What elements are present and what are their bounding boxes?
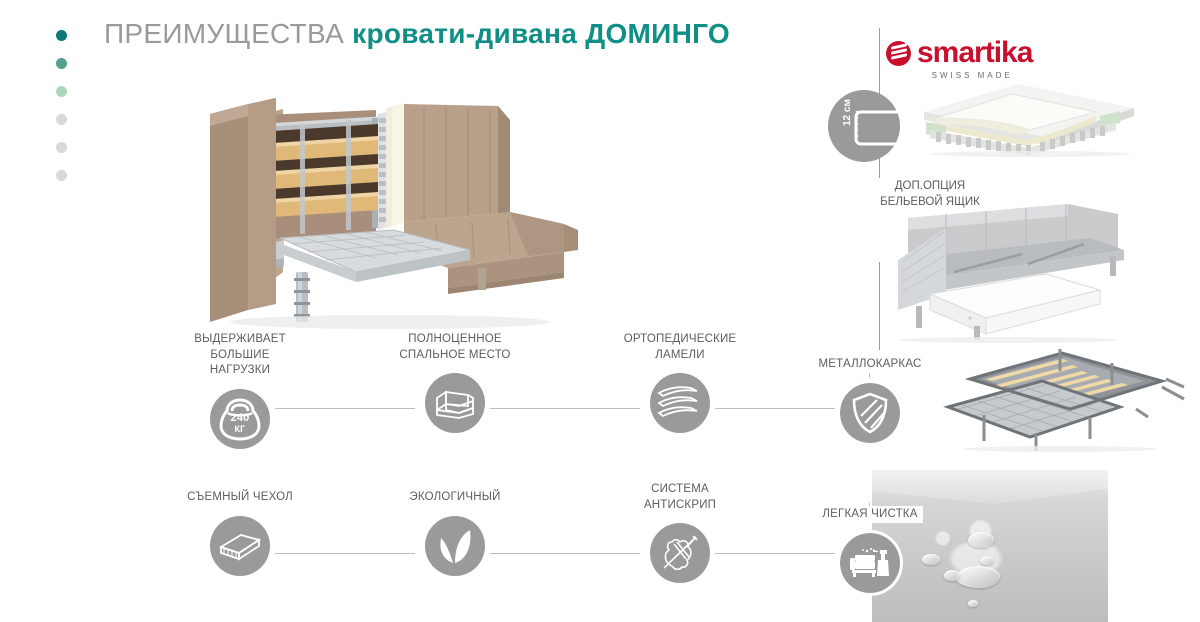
progress-dot-2[interactable]	[56, 58, 67, 69]
water-drop-4	[956, 566, 1000, 588]
progress-dot-3[interactable]	[56, 86, 67, 97]
mattress-thickness-label: 12 см	[842, 99, 853, 126]
feature-node-eco[interactable]: ЭКОЛОГИЧНЫЙ	[395, 490, 515, 576]
slats-icon[interactable]	[650, 373, 710, 433]
water-drop-3	[980, 556, 994, 565]
sofa-bed-cutaway-photo	[180, 72, 600, 330]
feature-node-metal-frame[interactable]: МЕТАЛЛОКАРКАС	[810, 340, 930, 443]
feature-label-sleeping-place: ПОЛНОЦЕННОЕ СПАЛЬНОЕ МЕСТО	[395, 332, 515, 363]
smartika-wordmark: smartika	[917, 38, 1032, 68]
feature-node-easy-clean[interactable]: ЛЕГКАЯ ЧИСТКА	[810, 490, 930, 593]
feature-label-metal-frame-text: МЕТАЛЛОКАРКАС	[814, 356, 927, 374]
feature-node-anti-squeak[interactable]: СИСТЕМА АНТИСКРИП	[620, 482, 740, 583]
violin-icon[interactable]	[650, 523, 710, 583]
progress-dot-5[interactable]	[56, 142, 67, 153]
sofa-with-storage-drawer-photo	[878, 198, 1200, 343]
smartika-mattress-cutaway-photo	[900, 78, 1160, 156]
feature-label-easy-clean: ЛЕГКАЯ ЧИСТКА	[810, 490, 930, 523]
feature-label-lamellas: ОРТОПЕДИЧЕСКИЕ ЛАМЕЛИ	[620, 332, 740, 363]
smartika-mark-icon	[886, 41, 911, 66]
page-title-secondary: кровати-дивана ДОМИНГО	[352, 18, 730, 49]
bed-icon[interactable]	[425, 373, 485, 433]
feature-label-load: ВЫДЕРЖИВАЕТ БОЛЬШИЕ НАГРУЗКИ	[180, 332, 300, 379]
smartika-logo: smartika SWISS MADE	[886, 38, 1032, 80]
leaf-icon[interactable]	[425, 516, 485, 576]
feature-label-easy-clean-text: ЛЕГКАЯ ЧИСТКА	[817, 506, 922, 524]
feature-label-metal-frame: МЕТАЛЛОКАРКАС	[810, 340, 930, 373]
feature-node-removable-cover[interactable]: СЪЕМНЫЙ ЧЕХОЛ	[180, 490, 300, 576]
sofa-spray-icon[interactable]	[840, 533, 900, 593]
progress-dot-6[interactable]	[56, 170, 67, 181]
metal-frame-with-slats-photo	[940, 345, 1198, 455]
water-drop-1	[968, 532, 994, 548]
slide-root: ПРЕИМУЩЕСТВА кровати-дивана ДОМИНГО	[0, 0, 1200, 622]
water-drop-6	[968, 600, 978, 607]
progress-dot-4[interactable]	[56, 114, 67, 125]
mattress-cover-icon[interactable]	[210, 516, 270, 576]
progress-dots	[56, 30, 67, 181]
feature-node-load[interactable]: ВЫДЕРЖИВАЕТ БОЛЬШИЕ НАГРУЗКИ 240 КГ	[180, 332, 300, 449]
kettlebell-weight-value: 240	[231, 413, 250, 424]
feature-label-eco: ЭКОЛОГИЧНЫЙ	[395, 490, 515, 506]
kettlebell-weight-unit: КГ	[231, 425, 250, 434]
page-title: ПРЕИМУЩЕСТВА кровати-дивана ДОМИНГО	[104, 18, 730, 50]
feature-node-sleeping-place[interactable]: ПОЛНОЦЕННОЕ СПАЛЬНОЕ МЕСТО	[395, 332, 515, 433]
progress-dot-1[interactable]	[56, 30, 67, 41]
shield-icon[interactable]	[840, 383, 900, 443]
feature-label-removable-cover: СЪЕМНЫЙ ЧЕХОЛ	[180, 490, 300, 506]
mattress-thickness-badge: 12 см	[828, 90, 900, 162]
kettlebell-icon[interactable]: 240 КГ	[210, 389, 270, 449]
feature-node-lamellas[interactable]: ОРТОПЕДИЧЕСКИЕ ЛАМЕЛИ	[620, 332, 740, 433]
water-drop-5	[944, 570, 960, 581]
feature-label-anti-squeak: СИСТЕМА АНТИСКРИП	[620, 482, 740, 513]
page-title-primary: ПРЕИМУЩЕСТВА	[104, 18, 352, 49]
